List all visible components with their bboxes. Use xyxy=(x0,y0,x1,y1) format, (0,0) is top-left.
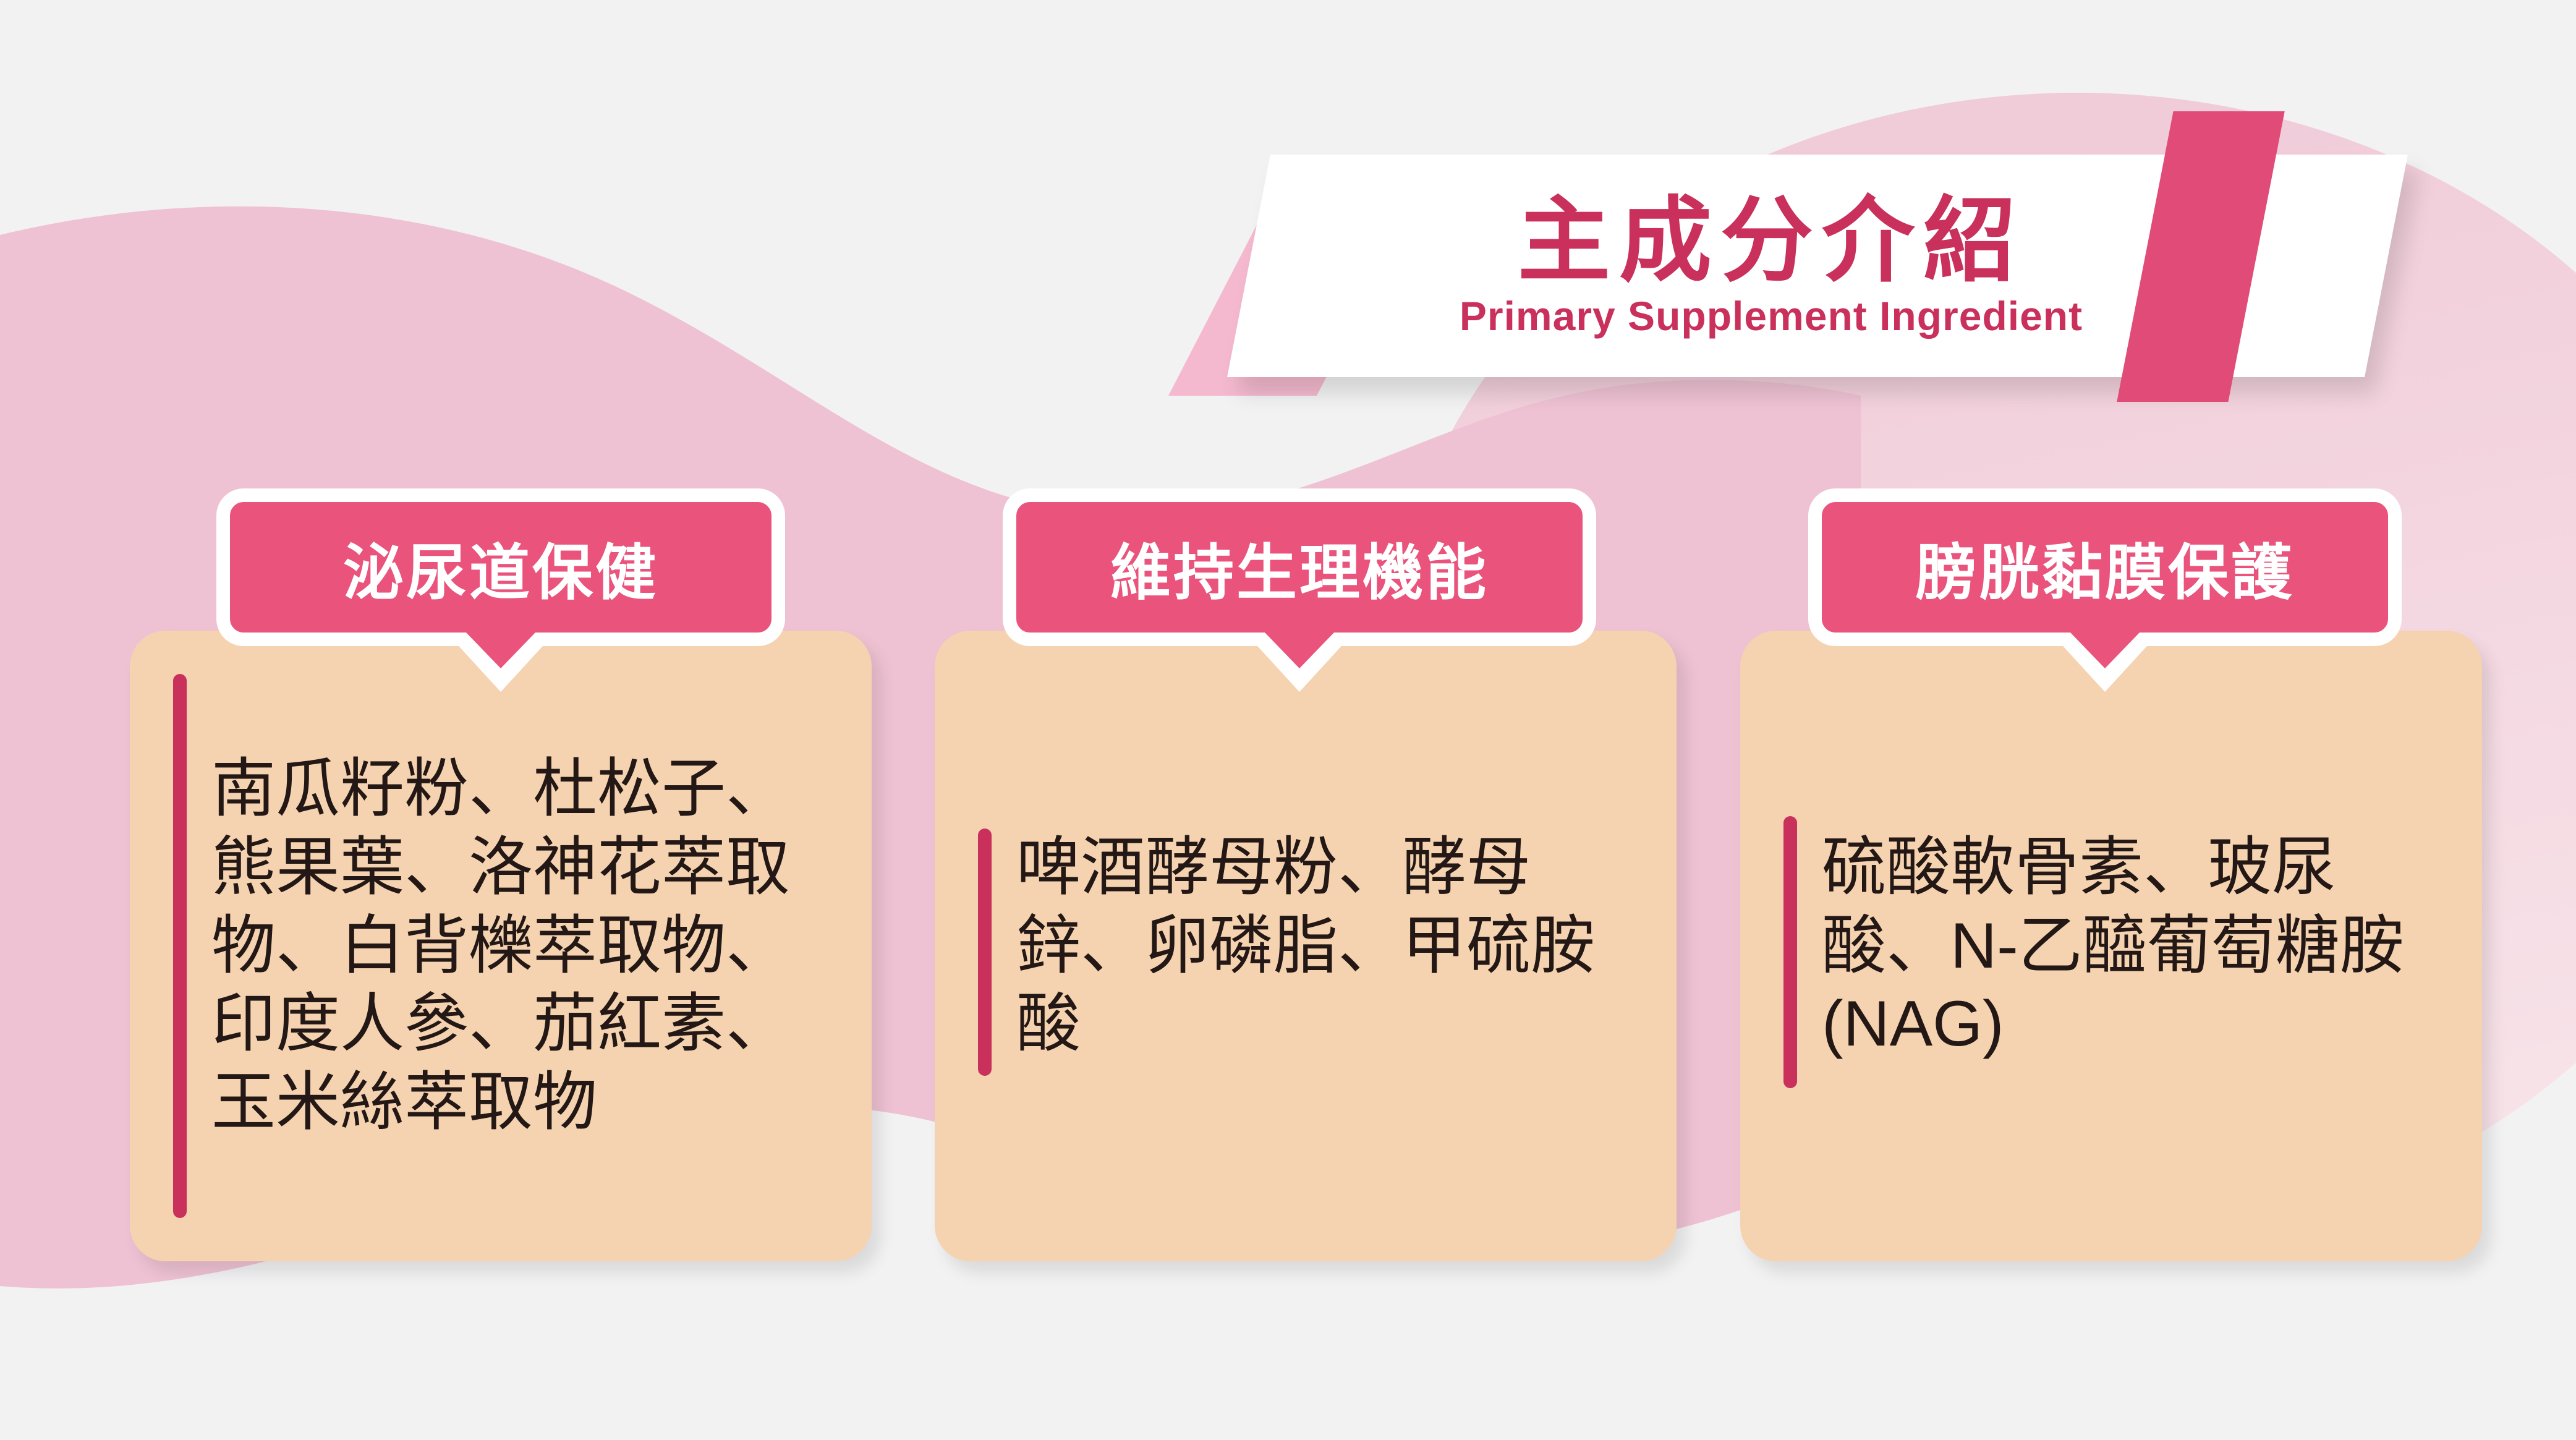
card-3-header-label: 膀胱黏膜保護 xyxy=(1916,524,2294,611)
card-2-header-bubble[interactable]: 維持生理機能 xyxy=(1003,488,1596,646)
card-3-header-bubble[interactable]: 膀胱黏膜保護 xyxy=(1808,488,2402,646)
card-2-accent-bar xyxy=(978,829,992,1076)
card-2-ingredient-text: 啤酒酵母粉、酵母鋅、卵磷脂、甲硫胺酸 xyxy=(1016,829,1633,1064)
card-3-accent-bar xyxy=(1783,816,1797,1088)
card-2-body: 啤酒酵母粉、酵母鋅、卵磷脂、甲硫胺酸 xyxy=(935,631,1677,1261)
card-1-ingredient-text: 南瓜籽粉、杜松子、熊果葉、洛神花萃取物、白背櫟萃取物、印度人參、茄紅素、玉米絲萃… xyxy=(211,750,828,1142)
card-3-body: 硫酸軟骨素、玻尿酸、N-乙醯葡萄糖胺(NAG) xyxy=(1740,631,2482,1261)
card-2-header-label: 維持生理機能 xyxy=(1110,524,1489,611)
card-1-bubble-tail-icon xyxy=(466,633,535,668)
card-1-header-label: 泌尿道保健 xyxy=(343,524,658,611)
card-1-header-bubble[interactable]: 泌尿道保健 xyxy=(216,488,785,646)
card-3-ingredient-text: 硫酸軟骨素、玻尿酸、N-乙醯葡萄糖胺(NAG) xyxy=(1822,829,2439,1064)
ingredient-card-group: 泌尿道保健 南瓜籽粉、杜松子、熊果葉、洛神花萃取物、白背櫟萃取物、印度人參、茄紅… xyxy=(0,0,2576,1440)
card-2-bubble-tail-icon xyxy=(1265,633,1334,668)
card-1-body: 南瓜籽粉、杜松子、熊果葉、洛神花萃取物、白背櫟萃取物、印度人參、茄紅素、玉米絲萃… xyxy=(130,631,872,1261)
card-1-accent-bar xyxy=(173,674,187,1218)
card-3-bubble-tail-icon xyxy=(2070,633,2140,668)
